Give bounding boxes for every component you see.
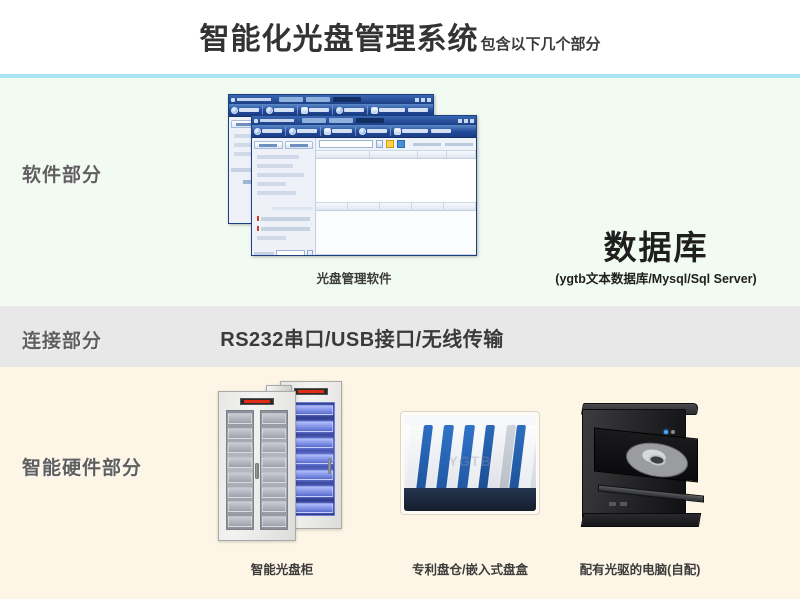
sidebar-input-field[interactable] (276, 250, 305, 256)
minimize-icon[interactable] (415, 98, 419, 102)
table-column-header (380, 203, 412, 210)
sidebar-field (257, 236, 286, 240)
table-column-header (348, 203, 380, 210)
sidebar-input-row[interactable] (254, 250, 313, 256)
window-controls[interactable] (458, 119, 474, 123)
disc-out-icon (266, 107, 273, 114)
toolbar-separator (320, 127, 321, 136)
connection-text: RS232串口/USB接口/无线传输 (0, 323, 762, 352)
toolbar-button-query[interactable] (301, 107, 329, 114)
window-tab[interactable] (279, 97, 303, 102)
disc-shelf (228, 487, 252, 498)
led-display-icon (294, 388, 328, 395)
disc-shelf (228, 472, 252, 483)
toolbar-separator (285, 127, 286, 136)
window-tab[interactable] (306, 97, 330, 102)
toolbar-button-stats[interactable] (394, 128, 428, 135)
window-main-panel (316, 138, 476, 255)
close-icon[interactable] (470, 119, 474, 123)
cabinet-door-left (226, 410, 254, 530)
toolbar-button-label (262, 129, 282, 133)
disc-shelf (228, 516, 252, 527)
computer-optical-drive-photo (568, 399, 712, 527)
disc-shelf (228, 457, 252, 468)
toolbar-separator (355, 127, 356, 136)
tray-inner: YGTB (404, 415, 536, 511)
cabinet-front (218, 391, 296, 541)
app-window-front[interactable] (251, 115, 477, 256)
section-label-hardware: 智能硬件部分 (22, 453, 142, 480)
sidebar-field (257, 164, 293, 168)
window-tab-active[interactable] (356, 118, 384, 123)
disc-in-icon (254, 128, 261, 135)
folder-icon[interactable] (386, 140, 394, 148)
sidebar-tab-label (290, 144, 308, 147)
pc-scene (568, 399, 712, 527)
table-column-header (370, 151, 418, 158)
bullet-marker (257, 216, 259, 221)
window-body (252, 138, 476, 255)
disc-shelf (228, 413, 252, 424)
toolbar-button-disc-in[interactable] (254, 128, 282, 135)
window-icon (231, 98, 235, 102)
toolbar-button-disc-out[interactable] (289, 128, 317, 135)
sidebar-input-label (254, 252, 274, 256)
window-tab-strip[interactable] (296, 118, 456, 123)
window-sidebar[interactable] (252, 138, 316, 255)
toolbar-separator (390, 127, 391, 136)
disc-cabinet-photo (214, 375, 350, 547)
disc-shelf (262, 428, 286, 439)
tray-scene: YGTB (400, 411, 540, 515)
search-icon (301, 107, 308, 114)
window-tab-active[interactable] (333, 97, 361, 102)
disc-shelf (262, 487, 286, 498)
toolbar-button-label (274, 108, 294, 112)
toolbar-button-settings[interactable] (336, 107, 364, 114)
table-column-header (316, 151, 370, 158)
sidebar-inputs[interactable] (254, 250, 313, 256)
cabinet-scene (214, 375, 350, 547)
table-body-upper[interactable] (316, 159, 476, 203)
toolbar-button-exit[interactable] (431, 129, 451, 133)
disc-shelf (262, 442, 286, 453)
search-bar[interactable] (316, 138, 476, 151)
disc-shelf (262, 413, 286, 424)
toolbar-separator (297, 106, 298, 115)
database-block: 数据库 (ygtb文本数据库/Mysql/Sql Server) (520, 230, 792, 287)
section-hardware: 智能硬件部分 (0, 367, 800, 599)
sidebar-tabs[interactable] (254, 141, 313, 149)
search-button[interactable] (376, 140, 383, 148)
bullet-marker (257, 226, 259, 231)
sidebar-field (257, 173, 304, 177)
table-column-header (444, 203, 476, 210)
cabinet-door-right (260, 410, 288, 530)
sidebar-bullet-item (257, 216, 310, 221)
database-title: 数据库 (520, 230, 792, 267)
sidebar-tab-one[interactable] (254, 141, 283, 149)
window-toolbar[interactable] (252, 125, 476, 138)
toolbar-button-label (367, 129, 387, 133)
disc-shelf (262, 457, 286, 468)
power-led-icon (664, 430, 668, 434)
watermark: YGTB (449, 453, 492, 469)
hardware-caption-cabinet: 智能光盘柜 (214, 559, 350, 578)
hardware-caption-pc: 配有光驱的电脑(自配) (560, 559, 720, 578)
section-software: 软件部分 (0, 78, 800, 305)
disc-shelf (228, 428, 252, 439)
window-controls[interactable] (415, 98, 431, 102)
led-digits (244, 400, 270, 403)
sidebar-bullet-list (254, 214, 313, 242)
disc-shelf (228, 501, 252, 512)
toolbar-button-label (332, 129, 352, 133)
toolbar-button-label (408, 108, 428, 112)
search-icon (324, 128, 331, 135)
toolbar-separator (262, 106, 263, 115)
sidebar-input-label (231, 168, 251, 172)
disc-shelf (262, 516, 286, 527)
window-icon (254, 119, 258, 123)
page-title: 智能化光盘管理系统 包含以下几个部分 (199, 14, 600, 58)
pc-base (581, 513, 701, 527)
table-column-header (316, 203, 348, 210)
page-title-subtitle: 包含以下几个部分 (480, 33, 600, 54)
hint-text (445, 143, 473, 146)
sidebar-note (272, 207, 313, 210)
hardware-caption-tray: 专利盘仓/嵌入式盘盒 (390, 559, 550, 578)
led-digits (298, 390, 324, 393)
disc-icon[interactable] (397, 140, 405, 148)
window-titlebar (252, 116, 476, 125)
section-connection: 连接部分 RS232串口/USB接口/无线传输 (0, 305, 800, 367)
table-header-lower (316, 203, 476, 211)
disc-tray-photo: YGTB (400, 411, 540, 515)
table-header-upper (316, 151, 476, 159)
page-title-main: 智能化光盘管理系统 (199, 14, 478, 58)
gear-icon (336, 107, 343, 114)
disc-out-icon (289, 128, 296, 135)
maximize-icon[interactable] (464, 119, 468, 123)
disc-shelf (262, 501, 286, 512)
toolbar-button-label (431, 129, 451, 133)
toolbar-button-disc-in[interactable] (231, 107, 259, 114)
sidebar-field (257, 155, 299, 159)
database-subtitle: (ygtb文本数据库/Mysql/Sql Server) (520, 268, 792, 287)
sidebar-field (257, 182, 286, 186)
minimize-icon[interactable] (458, 119, 462, 123)
section-label-software: 软件部分 (22, 160, 102, 187)
gear-icon (359, 128, 366, 135)
toolbar-button-exit[interactable] (408, 108, 428, 112)
chart-icon (394, 128, 401, 135)
bullet-label (261, 217, 310, 221)
toolbar-button-disc-out[interactable] (266, 107, 294, 114)
maximize-icon[interactable] (421, 98, 425, 102)
sidebar-field (257, 191, 296, 195)
tray-base (404, 488, 536, 511)
disc-shelf (262, 472, 286, 483)
sidebar-input-picker-button[interactable] (307, 250, 313, 256)
sidebar-tab-label (259, 144, 277, 147)
toolbar-button-label (402, 129, 428, 133)
pc-front-ports (609, 502, 627, 506)
sidebar-tab-two[interactable] (285, 141, 314, 149)
page-header: 智能化光盘管理系统 包含以下几个部分 (0, 0, 800, 78)
sidebar-bullet-item (257, 226, 310, 231)
software-screenshot-stack (228, 94, 480, 256)
bullet-label (261, 227, 310, 231)
window-tab[interactable] (329, 118, 353, 123)
toolbar-button-label (309, 108, 329, 112)
hint-text (413, 143, 441, 146)
usb-port-icon (609, 502, 616, 506)
activity-led-icon (671, 430, 675, 434)
toolbar-button-label (379, 108, 405, 112)
window-tab[interactable] (302, 118, 326, 123)
table-column-header (412, 203, 444, 210)
disc-shelf (228, 442, 252, 453)
led-display-icon (240, 398, 274, 405)
toolbar-button-label (344, 108, 364, 112)
cabinet-handle (255, 463, 258, 479)
pc-indicator-leds (664, 430, 675, 434)
software-caption: 光盘管理软件 (228, 268, 480, 287)
toolbar-button-label (297, 129, 317, 133)
usb-port-icon (620, 502, 627, 506)
window-title-text (260, 119, 294, 122)
toolbar-button-label (239, 108, 259, 112)
disc-in-icon (231, 107, 238, 114)
toolbar-separator (367, 106, 368, 115)
table-body-lower[interactable] (316, 211, 476, 255)
window-title-text (237, 98, 271, 101)
toolbar-separator (332, 106, 333, 115)
close-icon[interactable] (427, 98, 431, 102)
search-input[interactable] (319, 140, 373, 148)
window-tab-strip[interactable] (273, 97, 413, 102)
table-column-header (418, 151, 447, 158)
table-column-header (447, 151, 476, 158)
search-hint (413, 143, 473, 146)
window-titlebar (229, 95, 433, 104)
toolbar-button-stats[interactable] (371, 107, 405, 114)
toolbar-button-settings[interactable] (359, 128, 387, 135)
chart-icon (371, 107, 378, 114)
toolbar-button-query[interactable] (324, 128, 352, 135)
sidebar-field-list (254, 153, 313, 197)
cabinet-handle (328, 458, 331, 474)
